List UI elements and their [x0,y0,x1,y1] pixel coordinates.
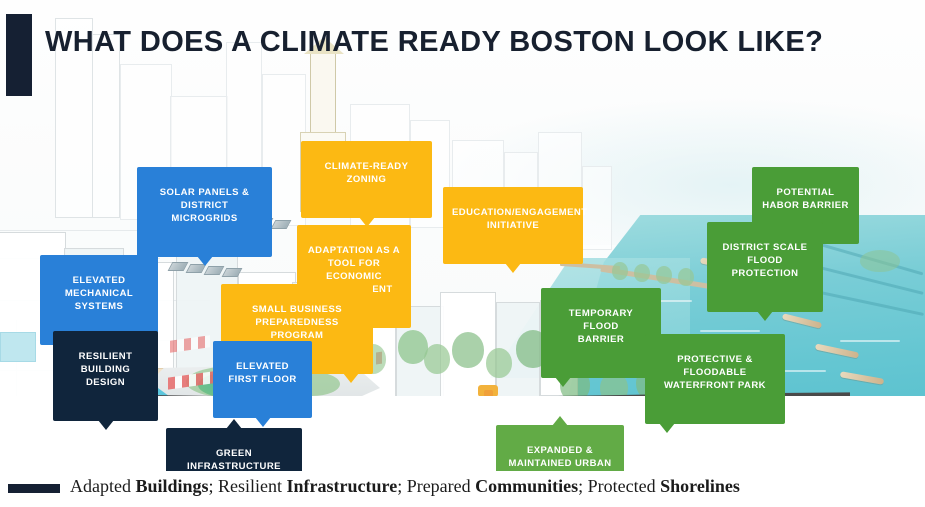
callout-pointer [255,417,271,427]
callout-pointer [659,423,675,433]
callout-label: PROTECTIVE & FLOODABLE WATERFRONT PARK [654,353,776,392]
callout-label: RESILIENT BUILDING DESIGN [62,350,149,389]
callout-pointer [757,311,773,321]
callout-pointer [98,420,114,430]
callout-solar-panels-microgrids[interactable]: SOLAR PANELS & DISTRICT MICROGRIDS [137,167,272,257]
footer-caption: Adapted Buildings; Resilient Infrastruct… [70,476,740,497]
infographic-canvas: WHAT DOES A CLIMATE READY BOSTON LOOK LI… [0,0,925,507]
footer-keyword: Communities [475,476,578,496]
callout-pointer [552,416,568,426]
footer-accent-bar [8,484,60,493]
title-block: WHAT DOES A CLIMATE READY BOSTON LOOK LI… [0,0,925,100]
callout-label: EDUCATION/ENGAGEMENT INITIATIVE [452,206,574,232]
footer-bar: Adapted Buildings; Resilient Infrastruct… [0,471,925,507]
callout-elevated-first-floor[interactable]: ELEVATED FIRST FLOOR [213,341,312,418]
wave-line [700,330,760,332]
callout-protective-floodable-waterfront-park[interactable]: PROTECTIVE & FLOODABLE WATERFRONT PARK [645,334,785,424]
tree [424,344,450,374]
callout-education-engagement[interactable]: EDUCATION/ENGAGEMENT INITIATIVE [443,187,583,264]
tree [612,262,628,280]
title-accent-bar [6,14,32,96]
foreground-building [0,332,36,362]
footer-word: Adapted [70,476,135,496]
tree [486,348,512,378]
callout-label: ELEVATED MECHANICAL SYSTEMS [49,274,149,313]
callout-climate-ready-zoning[interactable]: CLIMATE-READY ZONING [301,141,432,218]
footer-keyword: Buildings [135,476,208,496]
callout-label: ELEVATED FIRST FLOOR [222,360,303,386]
callout-label: DISTRICT SCALE FLOOD PROTECTION [716,241,814,280]
callout-label: CLIMATE-READY ZONING [310,160,423,186]
wave-line [840,340,900,342]
callout-pointer [555,377,571,387]
tree [656,266,672,284]
callout-label: SOLAR PANELS & DISTRICT MICROGRIDS [146,186,263,225]
callout-pointer [505,263,521,273]
footer-word: ; Protected [578,476,660,496]
callout-label: TEMPORARY FLOOD BARRIER [550,307,652,346]
callout-label: POTENTIAL HABOR BARRIER [761,186,850,212]
callout-district-scale-flood-protection[interactable]: DISTRICT SCALE FLOOD PROTECTION [707,222,823,312]
tree [634,264,650,282]
tree [860,250,900,272]
footer-keyword: Shorelines [660,476,740,496]
footer-word: ; Resilient [209,476,287,496]
callout-pointer [197,256,213,266]
tree [452,332,484,368]
page-title: WHAT DOES A CLIMATE READY BOSTON LOOK LI… [45,26,823,59]
callout-pointer [343,373,359,383]
tree [678,268,694,286]
footer-word: ; Prepared [397,476,475,496]
callout-temporary-flood-barrier[interactable]: TEMPORARY FLOOD BARRIER [541,288,661,378]
callout-resilient-building-design[interactable]: RESILIENT BUILDING DESIGN [53,331,158,421]
footer-keyword: Infrastructure [287,476,398,496]
callout-pointer [226,419,242,429]
callout-label: SMALL BUSINESS PREPAREDNESS PROGRAM [230,303,364,342]
